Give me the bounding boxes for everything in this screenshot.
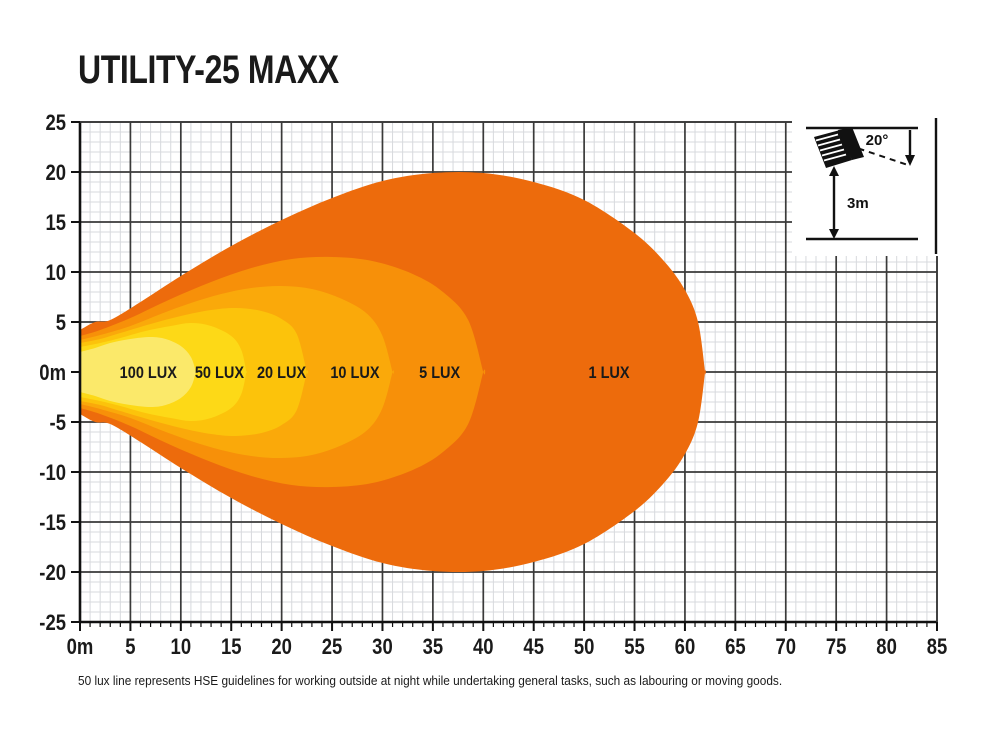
x-tick-label: 30 [372,636,393,660]
y-tick-label: -5 [50,412,66,436]
x-tick-label: 65 [725,636,746,660]
x-tick-label: 5 [125,636,135,660]
lux-zone-label: 20 LUX [257,364,307,382]
x-tick-label: 20 [271,636,292,660]
y-tick-label: -10 [39,462,66,486]
lux-zone-label: 10 LUX [330,364,380,382]
x-tick-label: 10 [171,636,192,660]
x-tick-label: 60 [675,636,696,660]
x-tick-label: 0m [67,636,94,660]
mounting-inset-diagram: 20° 3m [792,114,940,256]
footnote-text: 50 lux line represents HSE guidelines fo… [78,674,782,688]
lux-zone-label: 5 LUX [419,364,461,382]
beam-pattern-page: UTILITY-25 MAXX 1 LUX5 LUX10 LUX20 LUX50… [0,0,1000,750]
y-tick-label: -15 [39,512,66,536]
y-tick-label: -25 [39,612,66,636]
x-tick-label: 45 [523,636,544,660]
y-tick-label: 10 [45,262,66,286]
y-tick-label: 0m [39,362,66,386]
x-tick-label: 15 [221,636,242,660]
y-tick-label: 15 [45,212,66,236]
x-tick-label: 70 [775,636,796,660]
x-tick-label: 40 [473,636,494,660]
y-tick-label: 5 [56,312,66,336]
x-tick-label: 85 [927,636,948,660]
beam-pattern-chart: 1 LUX5 LUX10 LUX20 LUX50 LUX100 LUX 0m51… [0,0,1000,750]
x-tick-label: 75 [826,636,847,660]
y-tick-label: 25 [45,112,66,136]
inset-angle-label: 20° [866,132,889,149]
lux-zone-label: 100 LUX [120,364,178,382]
x-tick-label: 80 [876,636,897,660]
x-tick-label: 25 [322,636,343,660]
y-tick-label: -20 [39,562,66,586]
x-tick-label: 55 [624,636,645,660]
inset-height-label: 3m [847,195,869,212]
x-axis-labels: 0m510152025303540455055606570758085 [67,636,948,660]
y-tick-label: 20 [45,162,66,186]
x-tick-label: 35 [423,636,444,660]
lux-zone-label: 1 LUX [588,364,630,382]
lux-zone-label: 50 LUX [195,364,245,382]
x-tick-label: 50 [574,636,595,660]
y-axis-labels: 2520151050m-5-10-15-20-25 [39,112,66,636]
